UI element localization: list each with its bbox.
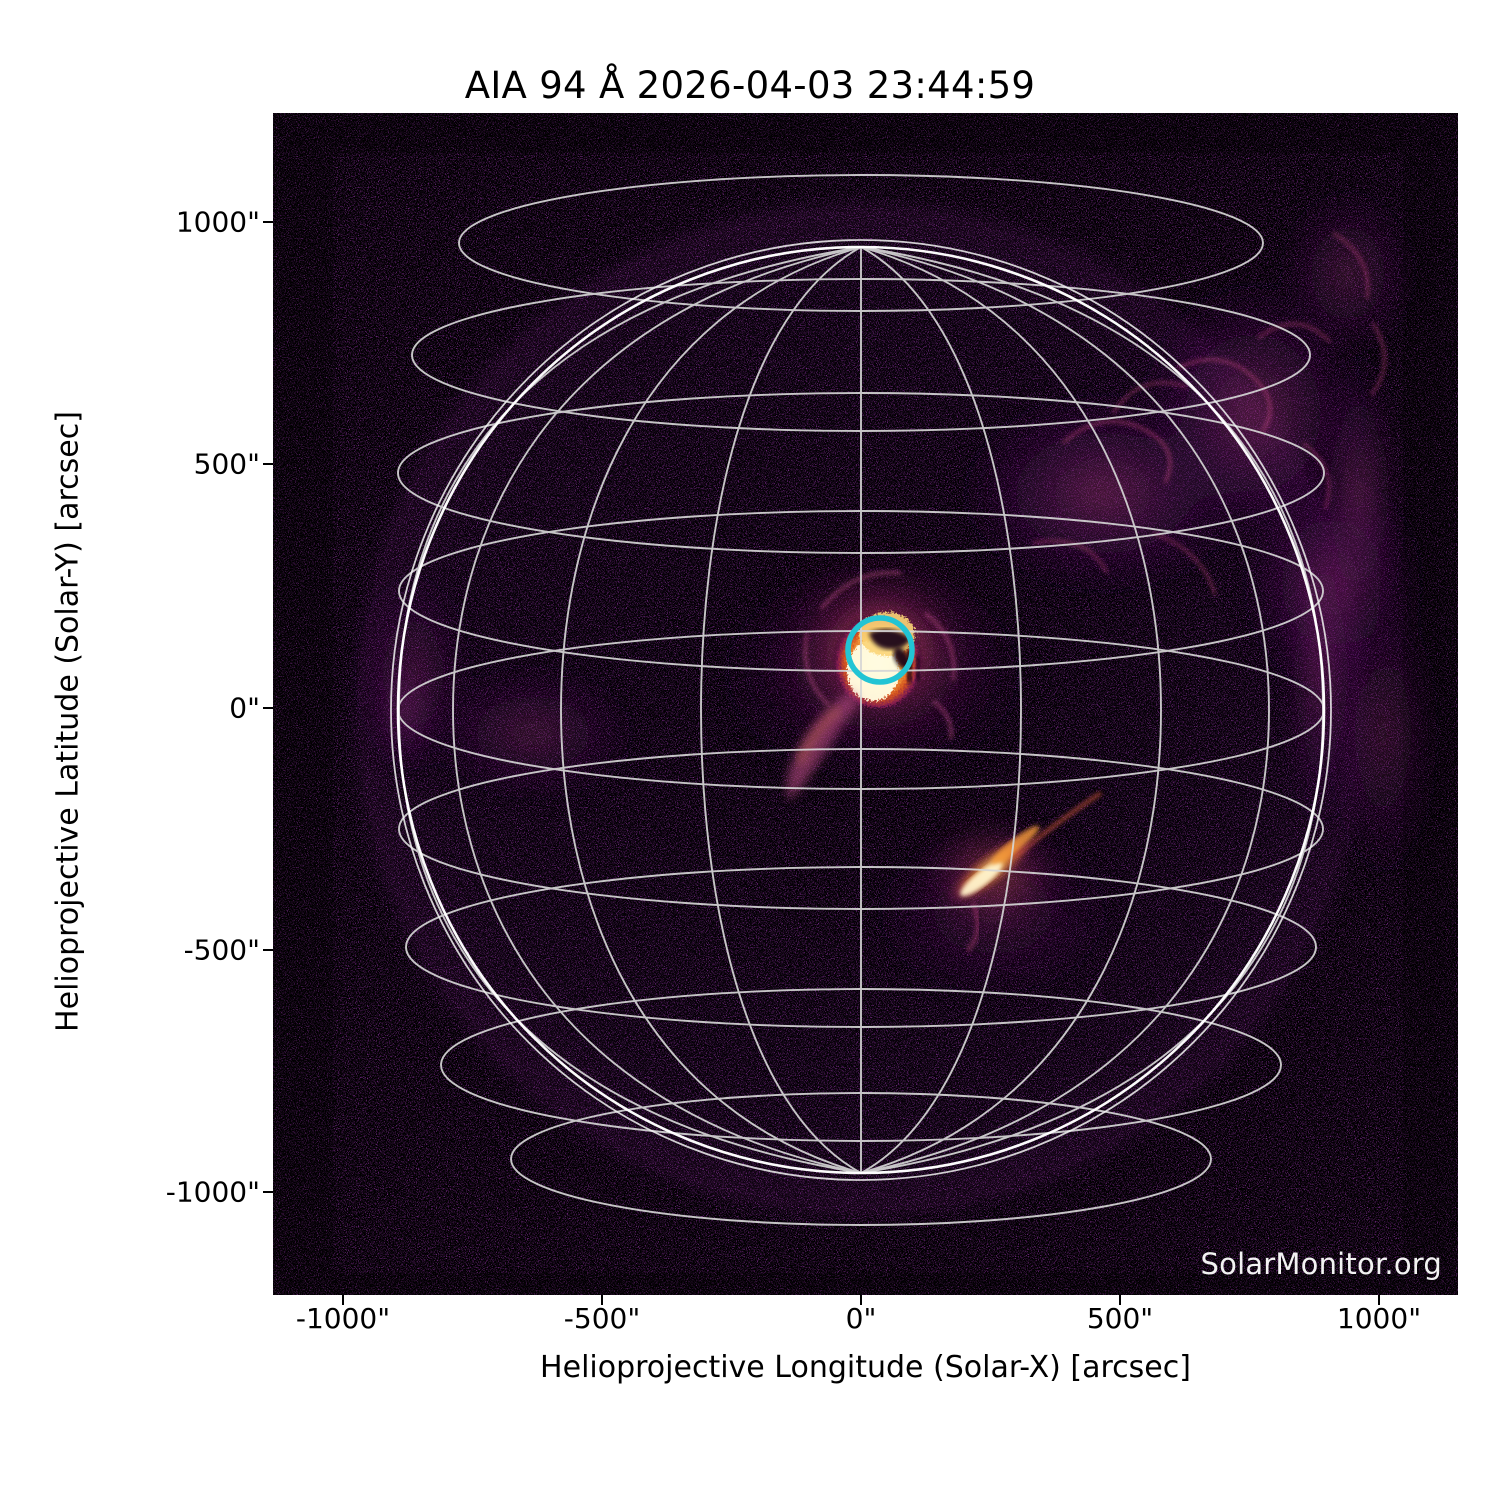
x-axis-label: Helioprojective Longitude (Solar-X) [arc…: [273, 1350, 1458, 1385]
xtick-label: -1000": [296, 1302, 390, 1335]
ytick-label: 500": [194, 448, 260, 481]
xtick-label: -500": [564, 1302, 640, 1335]
ytick-label: -1000": [166, 1176, 260, 1209]
ytick-mark: [263, 463, 273, 465]
watermark: SolarMonitor.org: [1201, 1247, 1442, 1281]
xtick-label: 1000": [1337, 1302, 1421, 1335]
page-title: AIA 94 Å 2026-04-03 23:44:59: [0, 64, 1500, 107]
solar-image-canvas: [273, 113, 1458, 1295]
ytick-label: 1000": [176, 206, 260, 239]
ytick-label: 0": [229, 692, 260, 725]
plot-area[interactable]: SolarMonitor.org: [273, 113, 1458, 1295]
ytick-mark: [263, 707, 273, 709]
xtick-label: 0": [846, 1302, 877, 1335]
ytick-mark: [263, 949, 273, 951]
ytick-label: -500": [184, 934, 260, 967]
y-axis-label: Helioprojective Latitude (Solar-Y) [arcs…: [51, 322, 86, 1122]
xtick-label: 500": [1087, 1302, 1153, 1335]
ytick-mark: [263, 1191, 273, 1193]
ytick-mark: [263, 221, 273, 223]
solar-image-figure: AIA 94 Å 2026-04-03 23:44:59: [0, 0, 1500, 1500]
